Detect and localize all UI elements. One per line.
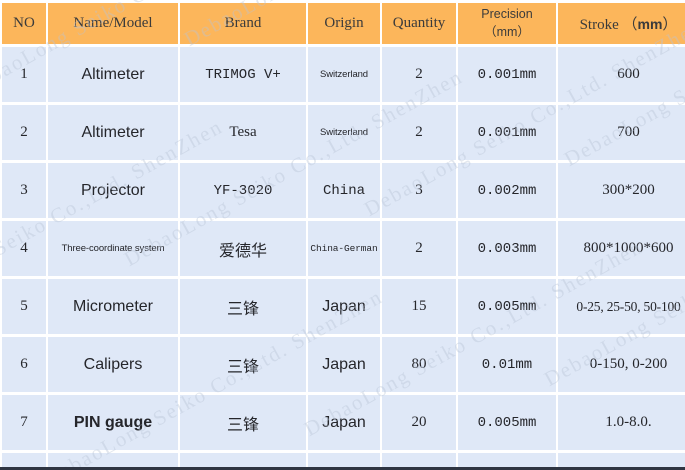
- equipment-table: NO Name/Model Brand Origin Quantity Prec…: [0, 0, 685, 470]
- column-header-stroke-main: Stroke: [580, 17, 623, 33]
- cell-stroke: 700: [558, 105, 685, 160]
- column-header-stroke-unit: mm: [638, 16, 663, 32]
- cell-stroke: 0-150, 0-200: [558, 337, 685, 392]
- table-row: 1 Altimeter TRIMOG V+ Switzerland 2 0.00…: [2, 47, 685, 102]
- cell-name: Calipers: [48, 337, 178, 392]
- cell-no: 1: [2, 47, 46, 102]
- cell-precision: 0.002mm: [458, 163, 556, 218]
- column-header-precision: Precision（mm）: [458, 3, 556, 44]
- table-header-row: NO Name/Model Brand Origin Quantity Prec…: [2, 3, 685, 44]
- table-header: NO Name/Model Brand Origin Quantity Prec…: [2, 3, 685, 44]
- cell-brand: 三锋: [180, 279, 306, 334]
- cell-origin: Japan: [308, 337, 380, 392]
- cell-no: 6: [2, 337, 46, 392]
- column-header-stroke-paren-open: （: [622, 17, 637, 33]
- cell-quantity: 2: [382, 221, 456, 276]
- cell-name: PIN gauge: [48, 395, 178, 450]
- cell-name: Micrometer: [48, 279, 178, 334]
- cell-precision: 0.005mm: [458, 395, 556, 450]
- cell-no: 2: [2, 105, 46, 160]
- cell-origin: China-German: [308, 221, 380, 276]
- column-header-quantity: Quantity: [382, 3, 456, 44]
- cell-quantity: 80: [382, 337, 456, 392]
- equipment-table-container: DebaoLong Seiko Co.,Ltd. ShenZhen DebaoL…: [0, 0, 685, 470]
- cell-brand: 爱德华: [180, 221, 306, 276]
- column-header-precision-main: Precision: [481, 7, 532, 21]
- cell-no: 7: [2, 395, 46, 450]
- table-row: 5 Micrometer 三锋 Japan 15 0.005mm 0-25, 2…: [2, 279, 685, 334]
- table-body: 1 Altimeter TRIMOG V+ Switzerland 2 0.00…: [2, 47, 685, 470]
- column-header-no: NO: [2, 3, 46, 44]
- cell-brand: 三锋: [180, 337, 306, 392]
- cell-precision: 0.001mm: [458, 105, 556, 160]
- cell-stroke: 800*1000*600: [558, 221, 685, 276]
- cell-name: Three-coordinate system: [48, 221, 178, 276]
- cell-name: Projector: [48, 163, 178, 218]
- cell-precision: 0.001mm: [458, 47, 556, 102]
- cell-no: 5: [2, 279, 46, 334]
- column-header-stroke-paren-close: ）: [662, 17, 677, 33]
- cell-quantity: 20: [382, 395, 456, 450]
- cell-name: Altimeter: [48, 105, 178, 160]
- table-row: 6 Calipers 三锋 Japan 80 0.01mm 0-150, 0-2…: [2, 337, 685, 392]
- cell-brand: 三锋: [180, 395, 306, 450]
- cell-name: Altimeter: [48, 47, 178, 102]
- table-row: 7 PIN gauge 三锋 Japan 20 0.005mm 1.0-8.0.: [2, 395, 685, 450]
- table-row: 4 Three-coordinate system 爱德华 China-Germ…: [2, 221, 685, 276]
- column-header-name: Name/Model: [48, 3, 178, 44]
- cell-origin: Japan: [308, 279, 380, 334]
- cell-brand: YF-3020: [180, 163, 306, 218]
- cell-brand: Tesa: [180, 105, 306, 160]
- cell-stroke: 0-25, 25-50, 50-100: [558, 279, 685, 334]
- table-row: 2 Altimeter Tesa Switzerland 2 0.001mm 7…: [2, 105, 685, 160]
- column-header-stroke: Stroke （mm）: [558, 3, 685, 44]
- cell-precision: 0.003mm: [458, 221, 556, 276]
- cell-origin: Switzerland: [308, 47, 380, 102]
- cell-stroke: 300*200: [558, 163, 685, 218]
- column-header-origin: Origin: [308, 3, 380, 44]
- cell-quantity: 2: [382, 105, 456, 160]
- cell-precision: 0.01mm: [458, 337, 556, 392]
- cell-quantity: 2: [382, 47, 456, 102]
- column-header-precision-unit: （mm）: [484, 25, 530, 39]
- cell-origin: Japan: [308, 395, 380, 450]
- cell-no: 4: [2, 221, 46, 276]
- cell-stroke: 1.0-8.0.: [558, 395, 685, 450]
- table-row: 3 Projector YF-3020 China 3 0.002mm 300*…: [2, 163, 685, 218]
- cell-brand: TRIMOG V+: [180, 47, 306, 102]
- cell-origin: Switzerland: [308, 105, 380, 160]
- cell-precision: 0.005mm: [458, 279, 556, 334]
- cell-quantity: 3: [382, 163, 456, 218]
- cell-quantity: 15: [382, 279, 456, 334]
- cell-no: 3: [2, 163, 46, 218]
- cell-stroke: 600: [558, 47, 685, 102]
- cell-origin: China: [308, 163, 380, 218]
- column-header-brand: Brand: [180, 3, 306, 44]
